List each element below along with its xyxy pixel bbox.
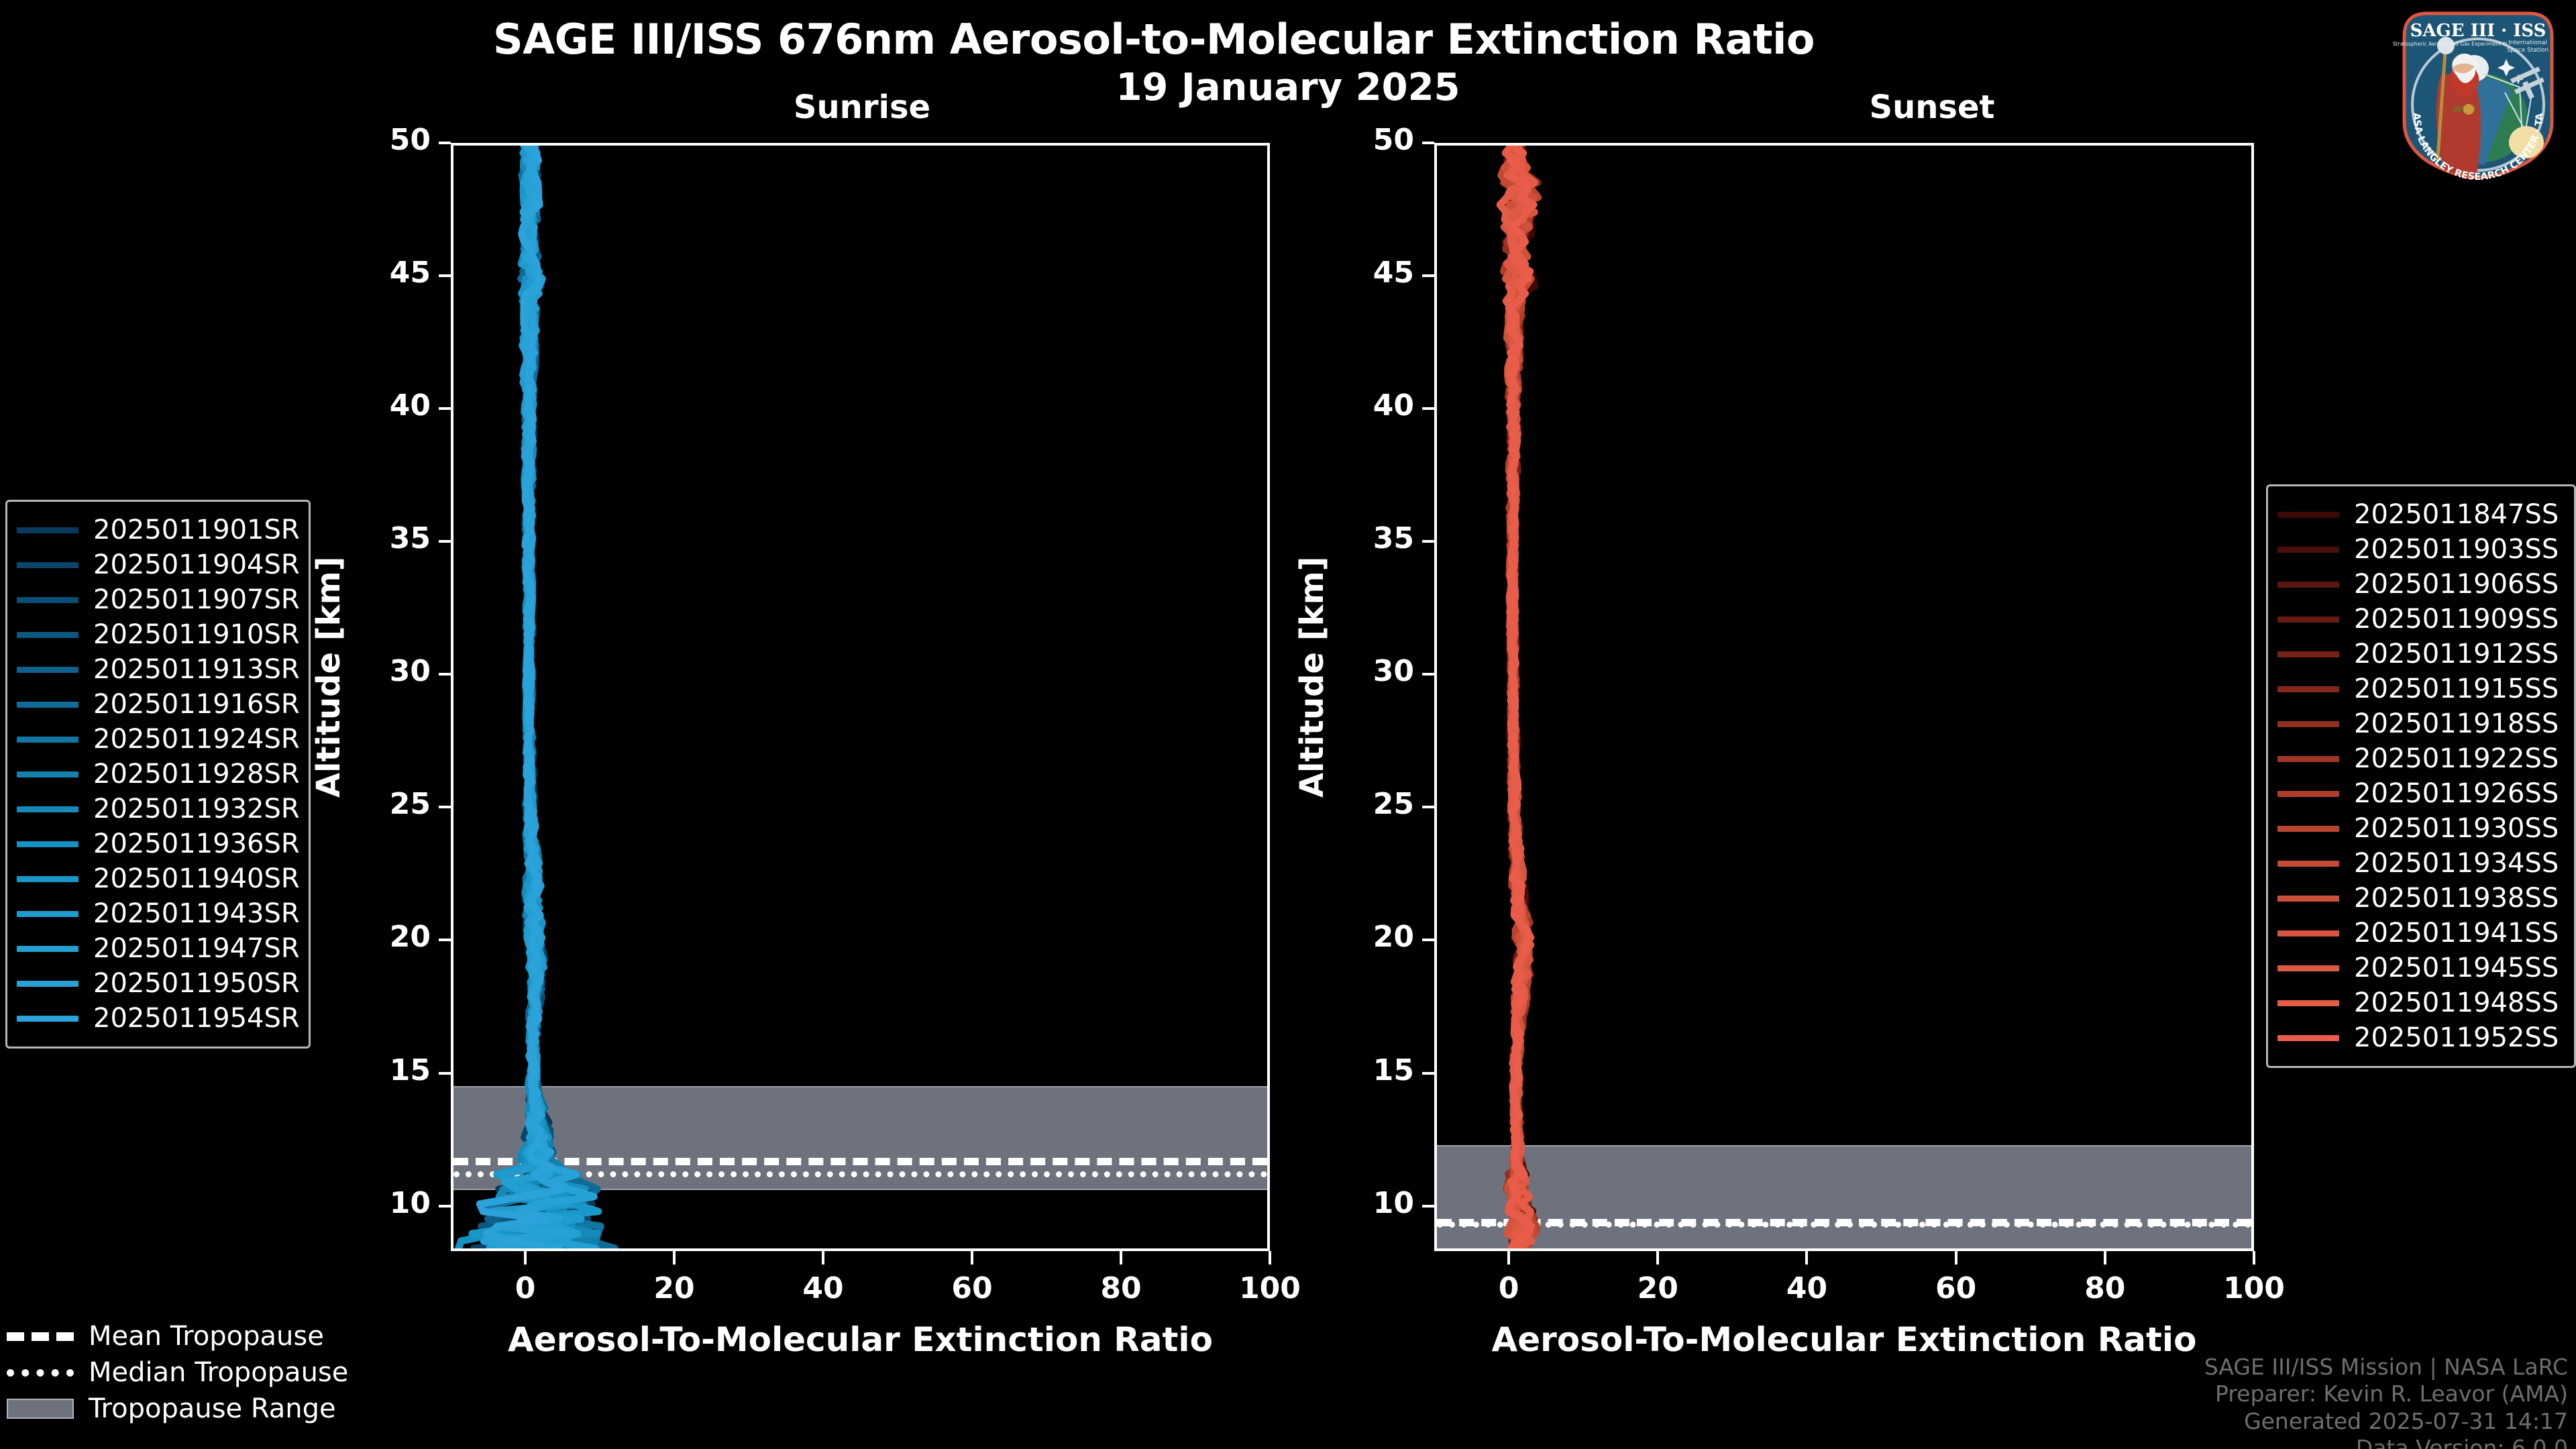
y-tick-label-10: 10 [1340,1186,1414,1220]
footer-line: Preparer: Kevin R. Leavor (AMA) [2204,1381,2568,1407]
y-tick-20 [439,938,451,941]
legend-color-swatch [2277,861,2339,867]
y-tick-25 [439,806,451,808]
legend-color-swatch [2277,1035,2339,1041]
legend-item[interactable]: 2025011909SS [2277,602,2562,637]
x-tick-label-40: 40 [1753,1271,1860,1305]
legend-item[interactable]: 2025011922SS [2277,741,2562,776]
y-tick-label-40: 40 [357,388,431,423]
legend-color-swatch [17,841,78,847]
legend-item[interactable]: 2025011934SS [2277,846,2562,881]
legend-item[interactable]: 2025011938SS [2277,881,2562,916]
profile-trace [480,146,563,1248]
legend-color-swatch [17,771,78,777]
legend-item-label: 2025011924SR [93,724,300,755]
legend-item-label: 2025011906SS [2354,569,2559,600]
legend-item[interactable]: 2025011928SR [17,757,297,792]
y-tick-20 [1422,938,1434,941]
y-tick-label-50: 50 [357,123,431,157]
x-tick-label-60: 60 [1902,1271,2010,1305]
legend-color-swatch [2277,686,2339,692]
y-tick-label-45: 45 [357,256,431,290]
legend-color-swatch [2277,616,2339,623]
x-tick-100 [1269,1251,1271,1265]
legend-item-label: 2025011918SS [2354,708,2559,739]
y-tick-label-25: 25 [1340,787,1414,821]
y-tick-50 [439,142,451,144]
legend-item[interactable]: 2025011950SR [17,966,297,1001]
legend-color-swatch [17,562,78,568]
legend-item-label: 2025011938SS [2354,883,2559,914]
legend-tropopause-key: Mean TropopauseMedian TropopauseTropopau… [7,1318,423,1427]
legend-item[interactable]: 2025011930SS [2277,811,2562,846]
legend-color-swatch [2277,512,2339,518]
legend-color-swatch [2277,582,2339,588]
x-tick-0 [1507,1251,1510,1265]
y-tick-50 [1422,142,1434,144]
tropopause-key-item: Tropopause Range [7,1391,423,1427]
legend-color-swatch [2277,1000,2339,1006]
legend-item[interactable]: 2025011954SR [17,1001,297,1036]
x-tick-0 [524,1251,527,1265]
profile-trace [505,146,596,1248]
legend-color-swatch [2277,721,2339,727]
x-tick-label-80: 80 [1067,1271,1175,1305]
y-tick-label-25: 25 [357,787,431,821]
y-tick-label-45: 45 [1340,256,1414,290]
legend-item-label: 2025011928SR [93,759,300,790]
legend-item-label: 2025011934SS [2354,848,2559,879]
legend-item-label: 2025011948SS [2354,987,2559,1018]
y-tick-10 [439,1205,451,1207]
legend-item[interactable]: 2025011907SR [17,582,297,617]
tropopause-key-label: Mean Tropopause [89,1321,324,1352]
y-tick-15 [1422,1072,1434,1075]
legend-item-label: 2025011952SS [2354,1022,2559,1053]
y-axis-label-sunrise: Altitude [km] [310,556,347,798]
logo-title: SAGE III · ISS [2410,21,2546,41]
tropopause-key-label: Median Tropopause [89,1357,348,1388]
x-tick-40 [822,1251,824,1265]
y-axis-label-sunset: Altitude [km] [1293,556,1331,798]
sunrise-profile-traces [453,146,1267,1248]
y-tick-label-15: 15 [357,1053,431,1087]
y-tick-label-40: 40 [1340,388,1414,423]
x-tick-label-80: 80 [2051,1271,2159,1305]
y-tick-label-10: 10 [357,1186,431,1220]
x-tick-80 [2104,1251,2106,1265]
legend-item-label: 2025011907SR [93,584,300,615]
legend-item-label: 2025011945SS [2354,953,2559,983]
tropopause-key-label: Tropopause Range [89,1393,336,1424]
profile-trace [498,146,595,1248]
legend-item[interactable]: 2025011903SS [2277,532,2562,567]
legend-item[interactable]: 2025011913SR [17,652,297,687]
tropopause-key-marker-dashed [7,1332,74,1341]
legend-sunrise-events[interactable]: 2025011901SR2025011904SR2025011907SR2025… [5,500,311,1049]
x-tick-label-100: 100 [2200,1271,2308,1305]
x-tick-100 [2253,1251,2255,1265]
legend-color-swatch [17,911,78,917]
legend-item[interactable]: 2025011948SS [2277,985,2562,1020]
legend-color-swatch [2277,896,2339,902]
logo-subtitle-right-2: Space Station [2507,47,2548,54]
tropopause-key-marker-patch [7,1399,74,1419]
legend-color-swatch [2277,930,2339,936]
legend-color-swatch [2277,965,2339,971]
tropopause-key-item: Median Tropopause [7,1354,423,1391]
legend-item-label: 2025011912SS [2354,639,2559,669]
legend-item-label: 2025011901SR [93,515,300,545]
footer-credits: SAGE III/ISS Mission | NASA LaRCPreparer… [2204,1354,2568,1449]
legend-item-label: 2025011943SR [93,898,300,929]
legend-color-swatch [17,667,78,673]
footer-line: SAGE III/ISS Mission | NASA LaRC [2204,1354,2568,1381]
y-tick-45 [1422,274,1434,277]
panel-subtitle-sunset: Sunset [1764,89,2100,126]
legend-item[interactable]: 2025011941SS [2277,916,2562,951]
profile-trace [498,146,597,1248]
y-tick-label-20: 20 [357,920,431,954]
legend-item-label: 2025011954SR [93,1003,300,1034]
y-tick-35 [439,540,451,543]
legend-item-label: 2025011940SR [93,863,300,894]
legend-item-label: 2025011904SR [93,549,300,580]
legend-item[interactable]: 2025011940SR [17,861,297,896]
legend-item-label: 2025011936SR [93,828,300,859]
y-tick-label-30: 30 [1340,654,1414,688]
x-tick-label-20: 20 [621,1271,728,1305]
logo-subtitle-left: Stratospheric Aerosol and Gas Experiment… [2393,41,2507,47]
legend-item[interactable]: 2025011906SS [2277,567,2562,602]
x-tick-80 [1120,1251,1122,1265]
legend-item-label: 2025011913SR [93,654,300,685]
legend-item-label: 2025011930SS [2354,813,2559,844]
legend-color-swatch [17,527,78,533]
legend-color-swatch [17,597,78,603]
legend-item[interactable]: 2025011918SS [2277,706,2562,741]
legend-item[interactable]: 2025011952SS [2277,1020,2562,1055]
legend-color-swatch [17,806,78,812]
legend-item[interactable]: 2025011932SR [17,792,297,826]
legend-color-swatch [17,981,78,987]
legend-item[interactable]: 2025011910SR [17,617,297,652]
legend-color-swatch [2277,756,2339,762]
legend-item[interactable]: 2025011945SS [2277,951,2562,985]
x-axis-label-sunset: Aerosol-To-Molecular Extinction Ratio [1434,1320,2254,1359]
y-tick-25 [1422,806,1434,808]
y-tick-label-15: 15 [1340,1053,1414,1087]
x-tick-20 [1656,1251,1659,1265]
legend-item-label: 2025011922SS [2354,743,2559,774]
y-tick-15 [439,1072,451,1075]
legend-item-label: 2025011910SR [93,619,300,650]
plot-area-sunrise [451,143,1270,1251]
legend-item-label: 2025011926SS [2354,778,2559,809]
legend-item[interactable]: 2025011943SR [17,896,297,931]
legend-item-label: 2025011950SR [93,968,300,999]
y-tick-40 [1422,407,1434,410]
panel-subtitle-sunrise: Sunrise [694,89,1030,126]
legend-item-label: 2025011932SR [93,794,300,824]
y-tick-10 [1422,1205,1434,1207]
x-tick-40 [1805,1251,1808,1265]
legend-sunset-events[interactable]: 2025011847SS2025011903SS2025011906SS2025… [2266,484,2576,1068]
legend-color-swatch [17,702,78,708]
y-tick-30 [439,673,451,676]
legend-color-swatch [2277,826,2339,832]
footer-line: Data Version: 6.0.0 [2204,1435,2568,1449]
x-tick-60 [971,1251,973,1265]
page-title: SAGE III/ISS 676nm Aerosol-to-Molecular … [0,15,2308,64]
y-tick-45 [439,274,451,277]
legend-color-swatch [17,876,78,882]
legend-color-swatch [2277,547,2339,553]
tropopause-key-marker-dotted [7,1369,74,1377]
y-tick-30 [1422,673,1434,676]
y-tick-label-50: 50 [1340,123,1414,157]
legend-color-swatch [2277,791,2339,797]
y-tick-label-20: 20 [1340,920,1414,954]
figure-date: 19 January 2025 [959,66,1617,109]
y-tick-35 [1422,540,1434,543]
y-tick-label-35: 35 [357,521,431,555]
y-tick-label-35: 35 [1340,521,1414,555]
legend-item-label: 2025011947SR [93,933,300,964]
y-tick-40 [439,407,451,410]
legend-color-swatch [17,632,78,638]
x-tick-label-0: 0 [1455,1271,1562,1305]
legend-item[interactable]: 2025011847SS [2277,497,2562,532]
logo-subtitle-right-1: International [2508,40,2546,46]
tropopause-key-item: Mean Tropopause [7,1318,423,1354]
legend-color-swatch [17,1016,78,1022]
legend-color-swatch [17,737,78,743]
legend-item[interactable]: 2025011936SR [17,826,297,861]
x-tick-60 [1955,1251,1957,1265]
legend-item[interactable]: 2025011924SR [17,722,297,757]
legend-color-swatch [2277,651,2339,657]
legend-item-label: 2025011941SS [2354,918,2559,949]
legend-item[interactable]: 2025011901SR [17,513,297,547]
x-tick-label-40: 40 [769,1271,877,1305]
profile-trace [499,146,592,1248]
x-axis-label-sunrise: Aerosol-To-Molecular Extinction Ratio [451,1320,1270,1359]
legend-item[interactable]: 2025011904SR [17,547,297,582]
legend-item-label: 2025011916SR [93,689,300,720]
footer-line: Generated 2025-07-31 14:17 [2204,1408,2568,1435]
logo-artwork: SAGE III · ISS Stratospheric Aerosol and… [2388,4,2568,184]
legend-item[interactable]: 2025011912SS [2277,637,2562,672]
sunset-profile-traces [1437,146,2251,1248]
legend-color-swatch [17,946,78,952]
plot-area-sunset [1434,143,2254,1251]
x-tick-label-0: 0 [472,1271,579,1305]
y-tick-label-30: 30 [357,654,431,688]
legend-item[interactable]: 2025011926SS [2277,776,2562,811]
legend-item[interactable]: 2025011947SR [17,931,297,966]
legend-item[interactable]: 2025011915SS [2277,672,2562,706]
legend-item-label: 2025011915SS [2354,674,2559,704]
x-tick-label-100: 100 [1216,1271,1324,1305]
legend-item[interactable]: 2025011916SR [17,687,297,722]
legend-item-label: 2025011909SS [2354,604,2559,635]
figure-canvas: SAGE III/ISS 676nm Aerosol-to-Molecular … [0,0,2576,1449]
x-tick-label-20: 20 [1604,1271,1711,1305]
x-tick-20 [673,1251,676,1265]
profile-trace [484,146,601,1248]
legend-item-label: 2025011903SS [2354,534,2559,565]
legend-item-label: 2025011847SS [2354,499,2559,530]
sage-iii-iss-mission-patch-logo: SAGE III · ISS Stratospheric Aerosol and… [2388,4,2568,184]
x-tick-label-60: 60 [918,1271,1026,1305]
